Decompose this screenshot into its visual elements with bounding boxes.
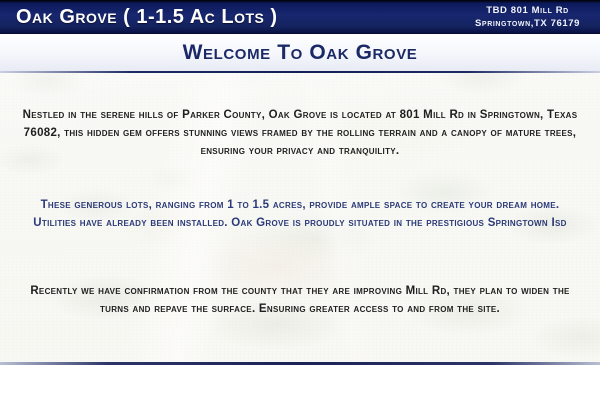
- header-divider-rule: [0, 71, 600, 73]
- footer-whitespace: [0, 365, 600, 400]
- header-address-line-1: TBD 801 Mill Rd: [475, 4, 580, 17]
- property-flyer: Oak Grove ( 1-1.5 Ac Lots ) TBD 801 Mill…: [0, 0, 600, 400]
- header-address-line-2: Springtown,TX 76179: [475, 17, 580, 30]
- header-address: TBD 801 Mill Rd Springtown,TX 76179: [475, 4, 590, 30]
- welcome-heading: Welcome To Oak Grove: [183, 41, 418, 65]
- paragraph-road-improvements: Recently we have confirmation from the c…: [0, 282, 600, 318]
- page-title: Oak Grove ( 1-1.5 Ac Lots ): [16, 6, 278, 29]
- paragraph-intro: Nestled in the serene hills of Parker Co…: [0, 106, 600, 160]
- welcome-band: Welcome To Oak Grove: [0, 34, 600, 72]
- content-area: Nestled in the serene hills of Parker Co…: [0, 74, 600, 360]
- header-bar: Oak Grove ( 1-1.5 Ac Lots ) TBD 801 Mill…: [0, 0, 600, 34]
- paragraph-lots: These generous lots, ranging from 1 to 1…: [0, 196, 600, 232]
